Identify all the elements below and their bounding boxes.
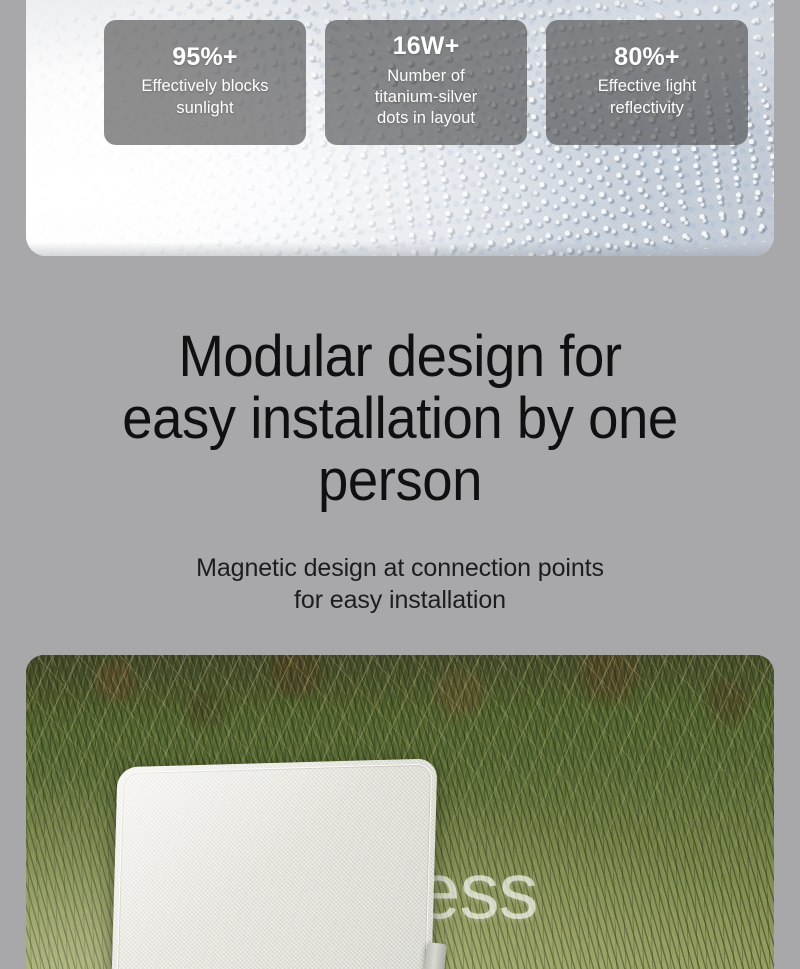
stat-label-line: titanium-silver <box>375 87 478 108</box>
subheadline-line-1: Magnetic design at connection points <box>0 552 800 584</box>
stat-label-line: dots in layout <box>375 108 478 129</box>
stat-label: Number of titanium-silver dots in layout <box>375 66 478 130</box>
stat-label: Effectively blocks sunlight <box>141 76 268 119</box>
stat-label-line: sunlight <box>141 98 268 119</box>
stat-label-line: Number of <box>375 66 478 87</box>
stat-card-dot-count: 16W+ Number of titanium-silver dots in l… <box>325 20 527 145</box>
headline-line-1: Modular design for <box>24 326 776 388</box>
headline-line-3: person <box>24 450 776 512</box>
product-detail-page: 95%+ Effectively blocks sunlight 16W+ Nu… <box>0 0 800 969</box>
outdoor-lifestyle-photo: Coolness <box>26 655 774 969</box>
fabric-bottom-shadow <box>26 242 774 256</box>
stat-card-sunlight-blocking: 95%+ Effectively blocks sunlight <box>104 20 306 145</box>
stat-label: Effective light reflectivity <box>598 76 697 119</box>
subheadline-line-2: for easy installation <box>0 584 800 616</box>
stat-label-line: reflectivity <box>598 98 697 119</box>
stat-value: 80%+ <box>614 44 679 72</box>
stat-card-reflectivity: 80%+ Effective light reflectivity <box>546 20 748 145</box>
section-subheadline: Magnetic design at connection points for… <box>0 552 800 616</box>
headline-line-2: easy installation by one <box>24 388 776 450</box>
stat-label-line: Effectively blocks <box>141 76 268 97</box>
stat-value: 16W+ <box>393 33 460 61</box>
mat-sheen-highlight <box>111 758 438 969</box>
shade-mat-panel <box>111 758 438 969</box>
stat-label-line: Effective light <box>598 76 697 97</box>
section-headline: Modular design for easy installation by … <box>24 326 776 512</box>
stat-card-row: 95%+ Effectively blocks sunlight 16W+ Nu… <box>104 20 748 145</box>
fabric-feature-banner: 95%+ Effectively blocks sunlight 16W+ Nu… <box>26 0 774 256</box>
stat-value: 95%+ <box>172 44 237 72</box>
